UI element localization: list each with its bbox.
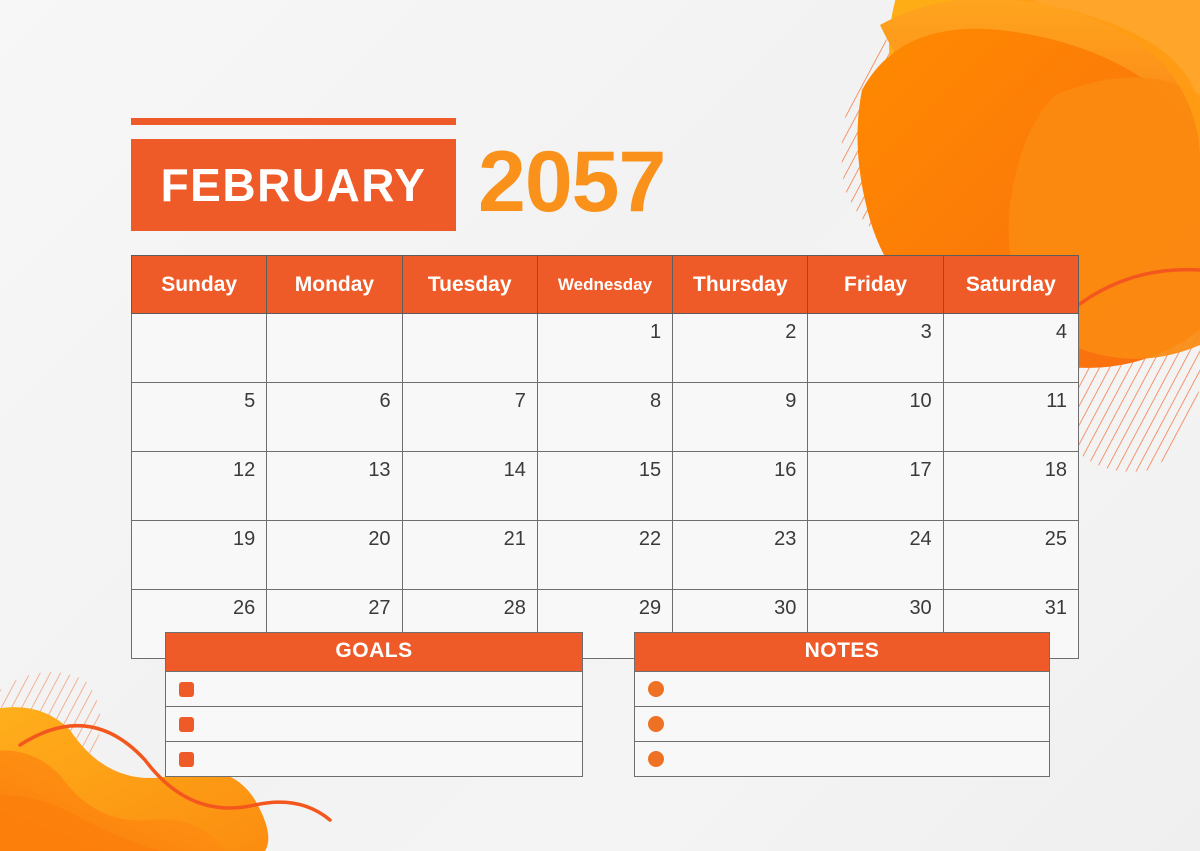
goals-row[interactable] — [166, 741, 582, 776]
day-cell[interactable]: 14 — [402, 452, 537, 521]
day-cell[interactable]: 11 — [943, 383, 1078, 452]
weekday-header-row: Sunday Monday Tuesday Wednesday Thursday… — [132, 256, 1079, 314]
weekday-header-monday: Monday — [267, 256, 402, 314]
checkbox-square-icon[interactable] — [179, 682, 194, 697]
checkbox-square-icon[interactable] — [179, 717, 194, 732]
day-cell[interactable]: 24 — [808, 521, 943, 590]
weekday-header-friday: Friday — [808, 256, 943, 314]
goals-row[interactable] — [166, 671, 582, 706]
day-cell[interactable]: 15 — [537, 452, 672, 521]
title-accent-bar — [131, 118, 456, 125]
day-cell[interactable]: 18 — [943, 452, 1078, 521]
day-cell[interactable] — [132, 314, 267, 383]
calendar-title: FEBRUARY 2057 — [131, 118, 665, 231]
day-cell[interactable]: 23 — [673, 521, 808, 590]
day-cell[interactable] — [402, 314, 537, 383]
day-cell[interactable]: 13 — [267, 452, 402, 521]
day-cell[interactable]: 22 — [537, 521, 672, 590]
notes-title: NOTES — [635, 633, 1049, 671]
goals-title: GOALS — [166, 633, 582, 671]
day-cell[interactable]: 10 — [808, 383, 943, 452]
year-label: 2057 — [478, 139, 665, 225]
checkbox-square-icon[interactable] — [179, 752, 194, 767]
calendar-week-row: 1 2 3 4 — [132, 314, 1079, 383]
goals-row[interactable] — [166, 706, 582, 741]
calendar-week-row: 5 6 7 8 9 10 11 — [132, 383, 1079, 452]
calendar-week-row: 19 20 21 22 23 24 25 — [132, 521, 1079, 590]
day-cell[interactable]: 19 — [132, 521, 267, 590]
day-cell[interactable]: 12 — [132, 452, 267, 521]
notes-row[interactable] — [635, 671, 1049, 706]
day-cell[interactable] — [267, 314, 402, 383]
bullet-circle-icon[interactable] — [648, 681, 664, 697]
day-cell[interactable]: 3 — [808, 314, 943, 383]
notes-row[interactable] — [635, 706, 1049, 741]
day-cell[interactable]: 7 — [402, 383, 537, 452]
calendar-week-row: 12 13 14 15 16 17 18 — [132, 452, 1079, 521]
weekday-header-saturday: Saturday — [943, 256, 1078, 314]
day-cell[interactable]: 20 — [267, 521, 402, 590]
weekday-header-sunday: Sunday — [132, 256, 267, 314]
day-cell[interactable]: 6 — [267, 383, 402, 452]
weekday-header-wednesday: Wednesday — [537, 256, 672, 314]
day-cell[interactable]: 25 — [943, 521, 1078, 590]
bullet-circle-icon[interactable] — [648, 716, 664, 732]
day-cell[interactable]: 16 — [673, 452, 808, 521]
day-cell[interactable]: 1 — [537, 314, 672, 383]
weekday-header-thursday: Thursday — [673, 256, 808, 314]
day-cell[interactable]: 9 — [673, 383, 808, 452]
goals-box: GOALS — [165, 632, 583, 777]
notes-box: NOTES — [634, 632, 1050, 777]
bullet-circle-icon[interactable] — [648, 751, 664, 767]
calendar-grid: Sunday Monday Tuesday Wednesday Thursday… — [131, 255, 1079, 659]
day-cell[interactable]: 17 — [808, 452, 943, 521]
day-cell[interactable]: 4 — [943, 314, 1078, 383]
weekday-header-tuesday: Tuesday — [402, 256, 537, 314]
notes-row[interactable] — [635, 741, 1049, 776]
day-cell[interactable]: 2 — [673, 314, 808, 383]
month-block: FEBRUARY — [131, 139, 456, 231]
day-cell[interactable]: 5 — [132, 383, 267, 452]
month-label: FEBRUARY — [161, 158, 427, 212]
day-cell[interactable]: 21 — [402, 521, 537, 590]
day-cell[interactable]: 8 — [537, 383, 672, 452]
